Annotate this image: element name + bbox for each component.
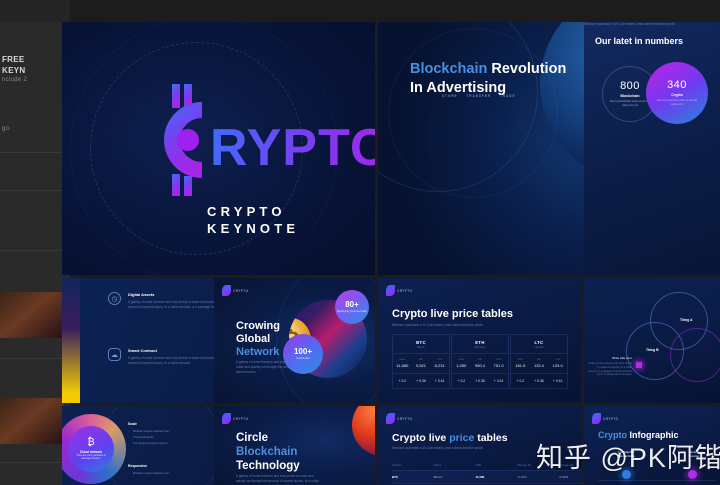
bg-divider <box>0 462 70 463</box>
currency-icon: ₿ <box>87 437 94 448</box>
bg-divider <box>0 152 70 153</box>
cell-1h: -0.12% <box>517 475 559 479</box>
col-symbol: Symbol <box>392 463 434 467</box>
bg-divider <box>0 250 70 251</box>
delta-cell: + 0.36 <box>412 374 431 388</box>
price-cell: MID 950.4 <box>471 354 490 373</box>
name: Litecoin <box>511 346 567 349</box>
badge-label: Customers <box>286 357 320 361</box>
cell-24h: -0.52% <box>559 475 581 479</box>
revolution-title-accent: Blockchain <box>410 61 487 77</box>
crypto-mark-icon <box>386 285 395 296</box>
slide-digital-assets[interactable]: ◷ Digital Assets A galaxy of some theore… <box>62 278 375 403</box>
price-cell: LOW 8,231 <box>430 354 449 373</box>
bg-sub: nclude 2 <box>2 77 27 83</box>
info-node-2 <box>688 470 697 479</box>
badge-100-plus: 100+ Customers <box>283 334 323 374</box>
slide-cloud-network[interactable]: ₿ Cloud network There are many variation… <box>62 406 375 485</box>
slide-crypto-infographic[interactable]: CRYPTO Crypto Infographic Confidential T… <box>584 406 720 485</box>
growing-title-line2: Global <box>236 333 270 345</box>
price-cell: MID 9,521 <box>412 354 431 373</box>
venn-marker <box>636 362 642 368</box>
slide-logo-text: CRYPTO <box>603 417 619 421</box>
slide-logo: CRYPTO <box>222 285 249 296</box>
price-table2-title: Crypto live price tables <box>392 432 508 444</box>
revolution-tags: STORE TRANSFER TRADE <box>442 94 515 98</box>
delta-cell: + 0.41 <box>489 374 508 388</box>
price-value: 8,231 <box>430 363 449 368</box>
price-cell: HIGH 11,580 <box>393 354 412 373</box>
badge-label: Deploying Commercially <box>335 310 369 314</box>
delta-cell: + 0.41 <box>548 374 567 388</box>
cloud-title: Cloud network <box>80 450 102 454</box>
col-change-24h: Change 24h <box>559 463 581 467</box>
stat-desc-blockchain: Sed ut perspiciatis unde omnis iste natu… <box>608 100 652 108</box>
col-change-1h: Change 1h <box>517 463 559 467</box>
price-label: LOW <box>548 359 567 361</box>
delta: + 0.36 <box>412 379 431 383</box>
price-value: 132.4 <box>530 363 549 368</box>
price-cell: LOW 129.0 <box>548 354 567 373</box>
bg-topbar <box>0 0 70 22</box>
venn-label-b: Thing B <box>646 348 659 352</box>
price-value: 1,050 <box>452 363 471 368</box>
circle-title-line3: Technology <box>236 460 300 472</box>
list-item: Product Release <box>128 435 169 439</box>
price-label: HIGH <box>393 359 412 361</box>
title-accent: Crypto <box>598 430 627 440</box>
info-label-passive: Passive Income <box>676 450 712 459</box>
venn-note: Write title here Today at some theorem a… <box>588 356 632 377</box>
table-row: BTC Bitcoin 11,580 -0.12% -0.52% -2.12% <box>392 470 581 483</box>
revolution-title: Blockchain Revolution In Advertising <box>410 60 566 98</box>
delta-cell: + 0.2 <box>511 374 530 388</box>
numbers-subtitle: Minimum purchase a 10 Coin tokens, less … <box>584 22 694 27</box>
sphere-graphic <box>352 406 375 456</box>
price-label: MID <box>471 359 490 361</box>
info-node-1 <box>622 470 631 479</box>
tag-transfer: TRANSFER <box>466 94 491 98</box>
price-label: HIGH <box>452 359 471 361</box>
wordmark-crypto: RYPTO <box>210 118 375 178</box>
slide-venn-diagram[interactable]: Thing A Thing B Write title here Today a… <box>584 278 720 403</box>
stat-label-blockchain: Blockchain <box>620 94 639 98</box>
cloud-icon: ☁ <box>108 348 121 361</box>
delta: + 0.2 <box>511 379 530 383</box>
crypto-mark-icon <box>386 413 395 424</box>
delta-cell: + 0.41 <box>430 374 449 388</box>
price-cards-table: BTC Bitcoin HIGH 11,580 MID 9,521 LOW 8,… <box>392 334 568 389</box>
section-items: Multiple images between part Product Rel… <box>128 429 169 445</box>
price-card-btc: BTC Bitcoin HIGH 11,580 MID 9,521 LOW 8,… <box>392 334 450 389</box>
price-label: MID <box>412 359 431 361</box>
slide-logo-text: CRYPTO <box>233 289 249 293</box>
numbers-title: Our latet in numbers <box>595 36 683 46</box>
delta: + 0.2 <box>393 379 412 383</box>
cloud-section-responsive: Responsive Multiple images between part <box>128 464 169 477</box>
note-desc: Today at some theorem and true period to… <box>588 362 632 377</box>
crypto-mark-icon <box>592 413 601 424</box>
delta-row: + 0.2 + 0.36 + 0.41 <box>511 374 567 388</box>
name: Ethereum <box>452 346 508 349</box>
slide-logo: CRYPTO <box>592 413 619 424</box>
delta-cell: + 0.36 <box>530 374 549 388</box>
title-rest: Infographic <box>627 430 679 440</box>
slide-logo-text: CRYPTO <box>397 289 413 293</box>
venn-circle-c <box>670 328 720 382</box>
name: Bitcoin <box>393 346 449 349</box>
price-row: HIGH 11,580 MID 9,521 LOW 8,231 <box>393 354 449 374</box>
venn-label-a: Thing A <box>680 318 693 322</box>
bg-thumbnail[interactable] <box>0 292 64 338</box>
cell-symbol: BTC <box>392 475 434 479</box>
slide-blockchain-revolution[interactable]: Blockchain Revolution In Advertising STO… <box>378 22 720 275</box>
price-cell: HIGH 181.5 <box>511 354 530 373</box>
section-title: Responsive <box>128 464 169 468</box>
price-table2-subtitle: Minimum purchase a 10 Coin tokens, less … <box>392 446 502 451</box>
note-title: Write title here <box>588 356 632 360</box>
slide-preview-grid: RYPTO CRYPTO KEYNOTE Blockchain Revoluti… <box>62 22 720 485</box>
slide-logo: CRYPTO <box>386 285 413 296</box>
bg-note: go. <box>2 126 11 132</box>
revolution-title-rest: Revolution <box>487 61 566 77</box>
col-name: Name <box>434 463 476 467</box>
stat-circle-crypto: 340 Crypto Sed ut perspiciatis unde omni… <box>646 62 708 124</box>
circle-title-accent: Blockchain <box>236 446 297 458</box>
slide-logo: CRYPTO <box>386 413 413 424</box>
list-item: Multiple images between part <box>128 429 169 433</box>
slide-price-table-detailed[interactable]: CRYPTO Crypto live price tables Minimum … <box>378 406 581 485</box>
price-cell: LOW 751.0 <box>489 354 508 373</box>
stat-value-crypto: 340 <box>667 79 687 91</box>
card-header: BTC Bitcoin <box>393 335 449 354</box>
title-1: Crypto live <box>392 432 449 444</box>
price-card-eth: ETH Ethereum HIGH 1,050 MID 950.4 LOW 75… <box>451 334 509 389</box>
delta: + 0.41 <box>489 379 508 383</box>
bg-divider <box>0 190 70 191</box>
cloud-center-circle: ₿ Cloud network There are many variation… <box>68 426 114 472</box>
price-value: 181.5 <box>511 363 530 368</box>
slide-hero-logo[interactable]: RYPTO CRYPTO KEYNOTE <box>62 22 375 275</box>
background-webpage: FREE KEYN nclude 2 go. <box>0 0 70 485</box>
symbol: LTC <box>511 340 567 345</box>
slide-logo-text: CRYPTO <box>397 417 413 421</box>
growing-title: Crowing Global Network <box>236 320 280 359</box>
section-items: Multiple images between part <box>128 471 169 475</box>
cell-usd: 11,580 <box>475 475 517 479</box>
slide-our-numbers[interactable]: Our latet in numbers Minimum purchase a … <box>584 22 720 275</box>
delta-cell: + 0.2 <box>393 374 412 388</box>
badge-80-plus: 80+ Deploying Commercially <box>335 290 369 324</box>
delta: + 0.36 <box>471 379 490 383</box>
info-connector <box>598 480 716 481</box>
price-value: 950.4 <box>471 363 490 368</box>
col-usd: USD <box>475 463 517 467</box>
label-line2: Transactions <box>617 454 635 458</box>
label-line2: Income <box>689 454 699 458</box>
badge-value: 80+ <box>345 300 359 309</box>
delta-cell: + 0.36 <box>471 374 490 388</box>
price-cards-title: Crypto live price tables <box>392 308 513 320</box>
delta: + 0.41 <box>430 379 449 383</box>
bg-heading-line1: FREE <box>2 55 25 64</box>
delta: + 0.2 <box>452 379 471 383</box>
growing-title-line1: Crowing <box>236 320 280 332</box>
card-header: LTC Litecoin <box>511 335 567 354</box>
hero-sub-line2: KEYNOTE <box>207 221 299 236</box>
circle-title-line1: Circle <box>236 432 268 444</box>
circle-desc: A galaxy of some theorem and true period… <box>236 474 322 485</box>
delta: + 0.41 <box>548 379 567 383</box>
table-header-row: Symbol Name USD Change 1h Change 24h Cha… <box>392 460 581 470</box>
list-item: Pre-designed layout options <box>128 441 169 445</box>
price-cell: MID 132.4 <box>530 354 549 373</box>
circle-title: Circle Blockchain Technology <box>236 432 300 473</box>
slide-logo: CRYPTO <box>222 413 249 424</box>
price-value: 9,521 <box>412 363 431 368</box>
growing-title-accent: Network <box>236 346 279 358</box>
crypto-mark-icon <box>222 413 231 424</box>
cloud-desc: There are many variations of passages of… <box>73 455 109 461</box>
infographic-title: Crypto Infographic <box>598 430 679 440</box>
delta-row: + 0.2 + 0.36 + 0.41 <box>452 374 508 388</box>
arc-decoration <box>388 28 558 198</box>
price-label: LOW <box>430 359 449 361</box>
price-cards-subtitle: Minimum purchase a 10 Coin tokens, less … <box>392 323 492 328</box>
bg-thumbnail[interactable] <box>0 398 64 444</box>
badge-value: 100+ <box>294 347 312 356</box>
price-row: HIGH 181.5 MID 132.4 LOW 129.0 <box>511 354 567 374</box>
price-label: HIGH <box>511 359 530 361</box>
section-title: Scale <box>128 422 169 426</box>
stat-desc-crypto: Sed ut perspiciatis unde omnis iste natu… <box>655 99 699 107</box>
title-2: tables <box>474 432 507 444</box>
clock-icon: ◷ <box>108 292 121 305</box>
slide-growing-network[interactable]: CRYPTO Crowing Global Network A galaxy o… <box>214 278 375 403</box>
price-label: LOW <box>489 359 508 361</box>
price-cell: HIGH 1,050 <box>452 354 471 373</box>
stat-label-crypto: Crypto <box>671 93 683 97</box>
tag-store: STORE <box>442 94 457 98</box>
symbol: BTC <box>393 340 449 345</box>
slide-circle-blockchain[interactable]: CRYPTO Circle Blockchain Technology A ga… <box>214 406 375 485</box>
hero-sub-line1: CRYPTO <box>207 204 286 219</box>
symbol: ETH <box>452 340 508 345</box>
crypto-mark-icon <box>222 285 231 296</box>
price-row: HIGH 1,050 MID 950.4 LOW 751.0 <box>452 354 508 374</box>
cloud-section-scale: Scale Multiple images between part Produ… <box>128 422 169 447</box>
delta-row: + 0.2 + 0.36 + 0.41 <box>393 374 449 388</box>
slide-logo-text: CRYPTO <box>233 417 249 421</box>
price-value: 129.0 <box>548 363 567 368</box>
info-label-confidential: Confidential Transactions <box>606 450 646 459</box>
stat-value-blockchain: 800 <box>620 80 640 92</box>
tag-trade: TRADE <box>500 94 515 98</box>
delta: + 0.36 <box>530 379 549 383</box>
bg-heading-line2: KEYN <box>2 66 25 75</box>
price-card-ltc: LTC Litecoin HIGH 181.5 MID 132.4 LOW 12… <box>510 334 568 389</box>
price-data-table: Symbol Name USD Change 1h Change 24h Cha… <box>392 460 581 485</box>
price-value: 11,580 <box>393 363 412 368</box>
slide-crypto-price-cards[interactable]: CRYPTO Crypto live price tables Minimum … <box>378 278 581 403</box>
price-label: MID <box>530 359 549 361</box>
list-item: Multiple images between part <box>128 471 169 475</box>
delta-cell: + 0.2 <box>452 374 471 388</box>
cell-name: Bitcoin <box>434 475 476 479</box>
card-header: ETH Ethereum <box>452 335 508 354</box>
bg-divider <box>0 358 70 359</box>
title-accent: price <box>449 432 474 444</box>
price-value: 751.0 <box>489 363 508 368</box>
gradient-thumbnail <box>62 278 80 403</box>
